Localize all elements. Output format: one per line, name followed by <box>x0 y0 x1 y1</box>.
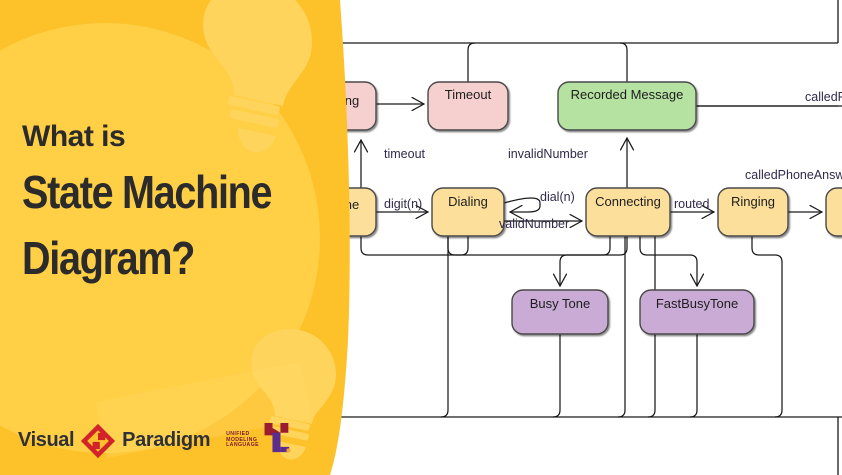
transition-label-digit: digit(n) <box>384 197 422 211</box>
uml-mark-icon <box>261 420 291 461</box>
state-label-busy-tone: Busy Tone <box>530 296 590 311</box>
title-line-1: State Machine <box>22 168 297 216</box>
state-label-connecting: Connecting <box>595 194 661 209</box>
brand-logo[interactable]: Visual Paradigm UNIFIED MODELING LANGUAG… <box>18 420 291 461</box>
state-node-timeout[interactable]: Timeout <box>428 82 508 130</box>
title-line-2: Diagram? <box>22 234 297 282</box>
transition-label-calledphoneanswers: calledPhoneAnsw <box>745 168 842 182</box>
brand-word-visual: Visual <box>18 429 74 452</box>
transition-label-timeout: timeout <box>384 147 426 161</box>
state-node-talking[interactable] <box>826 188 842 236</box>
page-title: What is State Machine Diagram? <box>22 122 342 283</box>
state-node-recorded-message[interactable]: Recorded Message <box>558 82 696 130</box>
state-label-recorded-message: Recorded Message <box>571 87 684 102</box>
state-label-fast-busy-tone: FastBusyTone <box>656 296 738 311</box>
state-node-connecting[interactable]: Connecting <box>586 188 670 236</box>
state-label-timeout: Timeout <box>445 87 492 102</box>
title-eyebrow: What is <box>22 122 342 152</box>
uml-line-3: LANGUAGE <box>226 443 259 449</box>
state-node-dialing[interactable]: Dialing <box>432 188 504 236</box>
title-panel: What is State Machine Diagram? Visual Pa… <box>0 0 360 475</box>
transition-label-dial: dial(n) <box>540 190 575 204</box>
transition-label-validnumber: validNumber <box>499 217 569 231</box>
transition-label-routed: routed <box>674 197 709 211</box>
visual-paradigm-diamond-icon <box>80 423 116 459</box>
state-label-ringing: Ringing <box>731 194 775 209</box>
brand-word-paradigm: Paradigm <box>122 429 210 452</box>
state-node-busy-tone[interactable]: Busy Tone <box>512 290 608 334</box>
state-node-fast-busy-tone[interactable]: FastBusyTone <box>640 290 754 334</box>
screenshot-canvas: ng Timeout Recorded Message ne Dialing C… <box>0 0 842 475</box>
state-node-ringing[interactable]: Ringing <box>718 188 788 236</box>
uml-logo: UNIFIED MODELING LANGUAGE <box>226 420 291 461</box>
transition-label-calledphone: calledP <box>805 90 842 104</box>
transition-label-invalidnumber: invalidNumber <box>508 147 588 161</box>
state-label-dialing: Dialing <box>448 194 488 209</box>
